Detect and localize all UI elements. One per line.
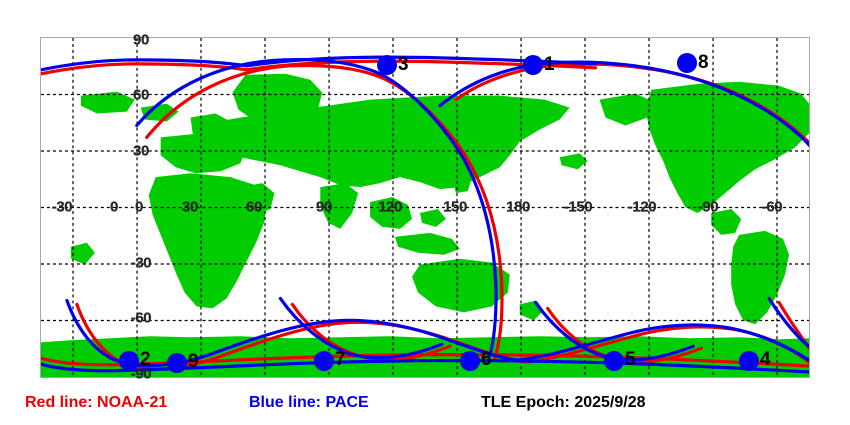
lon-tick-m150: -150 bbox=[564, 199, 592, 216]
lat-tick-m30: -30 bbox=[131, 255, 151, 272]
satellite-marker-label-7: 7 bbox=[335, 349, 346, 371]
lat-tick-60: 60 bbox=[133, 87, 149, 104]
satellite-marker-label-3: 3 bbox=[398, 54, 409, 76]
ground-track-map: 3 1 8 2 9 7 6 5 4 bbox=[40, 37, 810, 378]
satellite-marker-6[interactable] bbox=[460, 351, 480, 371]
legend-tle-epoch: TLE Epoch: 2025/9/28 bbox=[481, 394, 646, 412]
satellite-marker-3[interactable] bbox=[377, 55, 397, 75]
satellite-marker-label-9: 9 bbox=[188, 351, 199, 373]
lat-tick-m90: -90 bbox=[131, 366, 151, 383]
lat-tick-90: 90 bbox=[133, 32, 149, 49]
lon-tick-150: 150 bbox=[443, 199, 467, 216]
satellite-marker-5[interactable] bbox=[604, 351, 624, 371]
lat-tick-30: 30 bbox=[133, 143, 149, 160]
satellite-marker-label-1: 1 bbox=[544, 54, 555, 76]
map-canvas bbox=[41, 38, 809, 377]
lon-tick-90: 90 bbox=[316, 199, 332, 216]
satellite-marker-7[interactable] bbox=[314, 351, 334, 371]
lon-tick-m30: -30 bbox=[52, 199, 72, 216]
satellite-marker-label-8: 8 bbox=[698, 52, 709, 74]
lon-tick-m120: -120 bbox=[628, 199, 656, 216]
legend-entry-noaa21: Red line: NOAA-21 bbox=[25, 394, 167, 412]
satellite-marker-1[interactable] bbox=[523, 55, 543, 75]
satellite-marker-9[interactable] bbox=[167, 353, 187, 373]
lon-tick-m60: -60 bbox=[762, 199, 782, 216]
lon-tick-30: 30 bbox=[182, 199, 198, 216]
satellite-marker-label-5: 5 bbox=[625, 349, 636, 371]
lon-tick-120: 120 bbox=[378, 199, 402, 216]
lon-tick-60: 60 bbox=[246, 199, 262, 216]
lon-tick-0: 0 bbox=[110, 199, 118, 216]
lat-tick-0: 0 bbox=[135, 199, 143, 216]
legend-entry-pace: Blue line: PACE bbox=[249, 394, 369, 412]
satellite-marker-4[interactable] bbox=[739, 351, 759, 371]
satellite-marker-label-4: 4 bbox=[760, 349, 771, 371]
satellite-marker-8[interactable] bbox=[677, 53, 697, 73]
lat-tick-m60: -60 bbox=[131, 310, 151, 327]
lon-tick-m90: -90 bbox=[698, 199, 718, 216]
satellite-marker-label-6: 6 bbox=[481, 349, 492, 371]
legend: Red line: NOAA-21 Blue line: PACE TLE Ep… bbox=[0, 394, 850, 422]
lon-tick-180: 180 bbox=[506, 199, 530, 216]
